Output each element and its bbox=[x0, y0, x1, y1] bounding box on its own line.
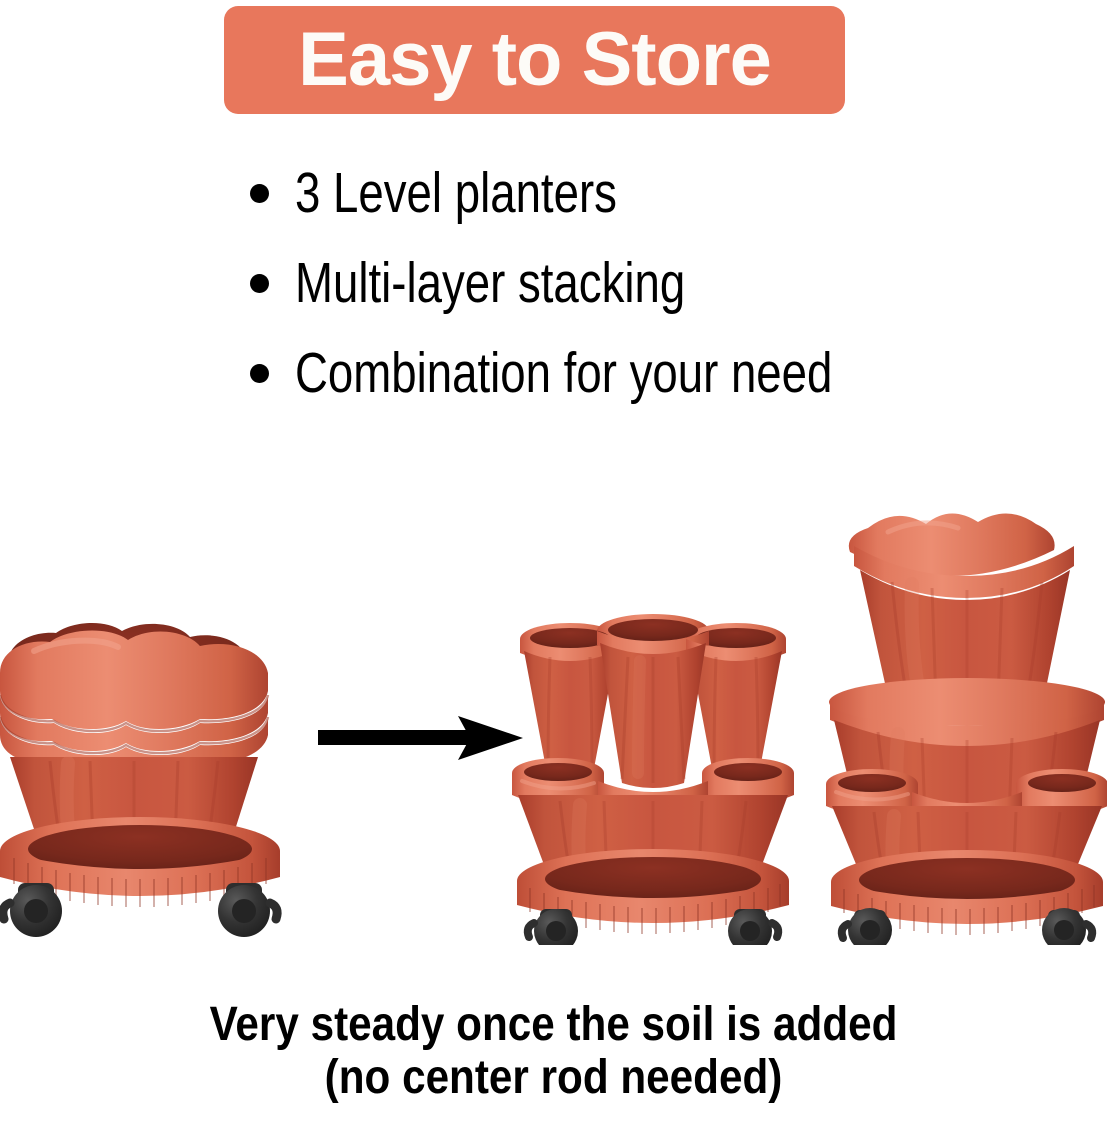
filled-circle-bullet-icon bbox=[250, 274, 269, 293]
planter-rim bbox=[0, 630, 268, 773]
feature-label: 3 Level planters bbox=[295, 165, 617, 222]
caster-wheel bbox=[3, 883, 62, 937]
single-tier-planter-graphic bbox=[0, 615, 286, 945]
caster-wheel bbox=[842, 908, 892, 945]
feature-label: Multi-layer stacking bbox=[295, 255, 685, 312]
filled-circle-bullet-icon bbox=[250, 364, 269, 383]
planter-tier-3 bbox=[849, 513, 1074, 706]
two-tier-planter-stack-graphic bbox=[512, 605, 794, 945]
feature-label: Combination for your need bbox=[295, 345, 832, 402]
three-tier-planter-stack bbox=[826, 488, 1107, 945]
caster-wheel bbox=[218, 883, 277, 937]
caster-wheel bbox=[528, 909, 578, 945]
single-tier-planter bbox=[0, 615, 286, 945]
caption-line-2: (no center rod needed) bbox=[66, 1051, 1040, 1104]
list-item: Combination for your need bbox=[250, 328, 1070, 418]
list-item: Multi-layer stacking bbox=[250, 238, 1070, 328]
two-tier-planter-stack bbox=[512, 605, 794, 945]
list-item: 3 Level planters bbox=[250, 148, 1070, 238]
caster-wheel bbox=[728, 909, 778, 945]
caster-wheel bbox=[1042, 908, 1092, 945]
page-title: Easy to Store bbox=[298, 22, 771, 98]
caption-line-1: Very steady once the soil is added bbox=[66, 998, 1040, 1051]
header-banner: Easy to Store bbox=[224, 6, 845, 114]
right-arrow-icon bbox=[318, 710, 523, 766]
feature-list: 3 Level planters Multi-layer stacking Co… bbox=[250, 148, 1070, 418]
bottom-caption: Very steady once the soil is added (no c… bbox=[0, 998, 1107, 1104]
product-illustration bbox=[0, 420, 1107, 980]
three-tier-planter-stack-graphic bbox=[826, 488, 1107, 945]
filled-circle-bullet-icon bbox=[250, 184, 269, 203]
